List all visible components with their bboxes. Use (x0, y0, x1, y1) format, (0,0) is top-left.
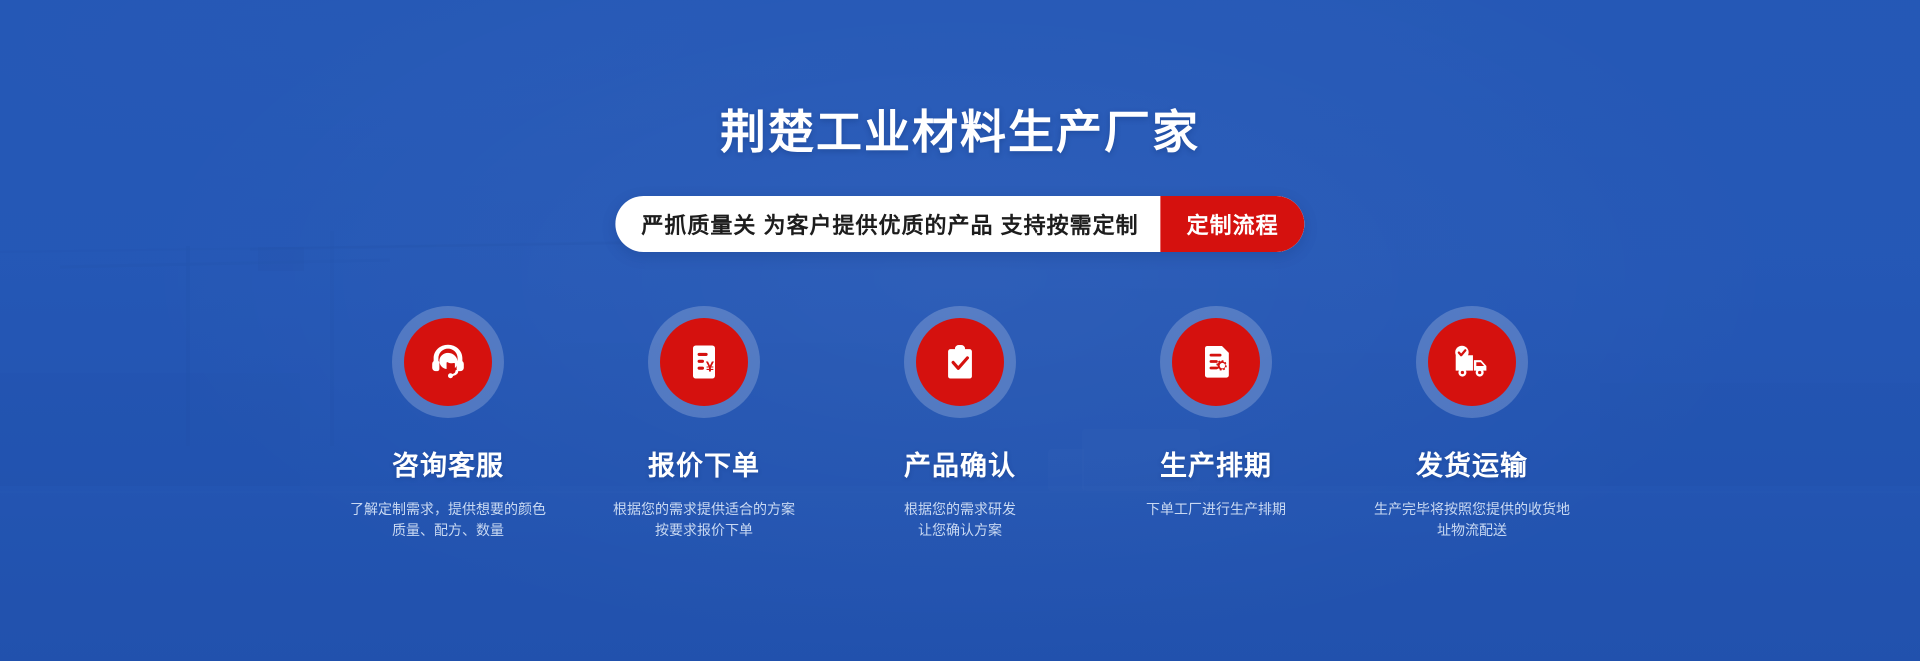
step-item-schedule[interactable]: 生产排期 下单工厂进行生产排期 (1088, 306, 1344, 520)
step-description-line: 生产完毕将按照您提供的收货地 (1374, 499, 1570, 520)
step-label: 生产排期 (1160, 444, 1272, 483)
icon-disc (1172, 318, 1260, 406)
icon-ring (392, 306, 504, 418)
icon-disc (916, 318, 1004, 406)
headset-support-icon (425, 339, 471, 385)
custom-process-button[interactable]: 定制流程 (1161, 196, 1305, 252)
step-item-shipping[interactable]: 发货运输 生产完毕将按照您提供的收货地 址物流配送 (1344, 306, 1600, 541)
step-description: 下单工厂进行生产排期 (1146, 499, 1286, 520)
step-description: 生产完毕将按照您提供的收货地 址物流配送 (1374, 499, 1570, 541)
icon-ring (904, 306, 1016, 418)
icon-disc: ¥ (660, 318, 748, 406)
icon-disc (1428, 318, 1516, 406)
page-title: 荆楚工业材料生产厂家 (0, 96, 1920, 162)
svg-text:¥: ¥ (706, 360, 715, 376)
invoice-yuan-icon: ¥ (682, 340, 726, 384)
step-description-line: 下单工厂进行生产排期 (1146, 499, 1286, 520)
step-description: 根据您的需求研发 让您确认方案 (904, 499, 1016, 541)
step-description: 根据您的需求提供适合的方案 按要求报价下单 (613, 499, 795, 541)
icon-ring: ¥ (648, 306, 760, 418)
step-label: 发货运输 (1416, 444, 1528, 483)
step-label: 产品确认 (904, 444, 1016, 483)
step-item-consult[interactable]: 咨询客服 了解定制需求，提供想要的颜色 质量、配方、数量 (320, 306, 576, 541)
step-description-line: 根据您的需求提供适合的方案 (613, 499, 795, 520)
step-description-line: 按要求报价下单 (613, 520, 795, 541)
clipboard-check-icon (938, 340, 982, 384)
step-description-line: 质量、配方、数量 (350, 520, 546, 541)
slogan-text: 严抓质量关 为客户提供优质的产品 支持按需定制 (641, 208, 1160, 240)
step-description-line: 址物流配送 (1374, 520, 1570, 541)
process-steps: 咨询客服 了解定制需求，提供想要的颜色 质量、配方、数量 (320, 306, 1600, 541)
slogan-pill: 严抓质量关 为客户提供优质的产品 支持按需定制 定制流程 (615, 196, 1304, 252)
step-description-line: 了解定制需求，提供想要的颜色 (350, 499, 546, 520)
icon-disc (404, 318, 492, 406)
step-label: 报价下单 (648, 444, 760, 483)
step-item-confirm[interactable]: 产品确认 根据您的需求研发 让您确认方案 (832, 306, 1088, 541)
step-description-line: 让您确认方案 (904, 520, 1016, 541)
step-label: 咨询客服 (392, 444, 504, 483)
delivery-truck-check-icon (1449, 339, 1495, 385)
hero-banner: 荆楚工业材料生产厂家 严抓质量关 为客户提供优质的产品 支持按需定制 定制流程 (0, 0, 1920, 661)
icon-ring (1416, 306, 1528, 418)
step-item-quote[interactable]: ¥ 报价下单 根据您的需求提供适合的方案 按要求报价下单 (576, 306, 832, 541)
icon-ring (1160, 306, 1272, 418)
step-description-line: 根据您的需求研发 (904, 499, 1016, 520)
document-gear-icon (1194, 340, 1238, 384)
step-description: 了解定制需求，提供想要的颜色 质量、配方、数量 (350, 499, 546, 541)
